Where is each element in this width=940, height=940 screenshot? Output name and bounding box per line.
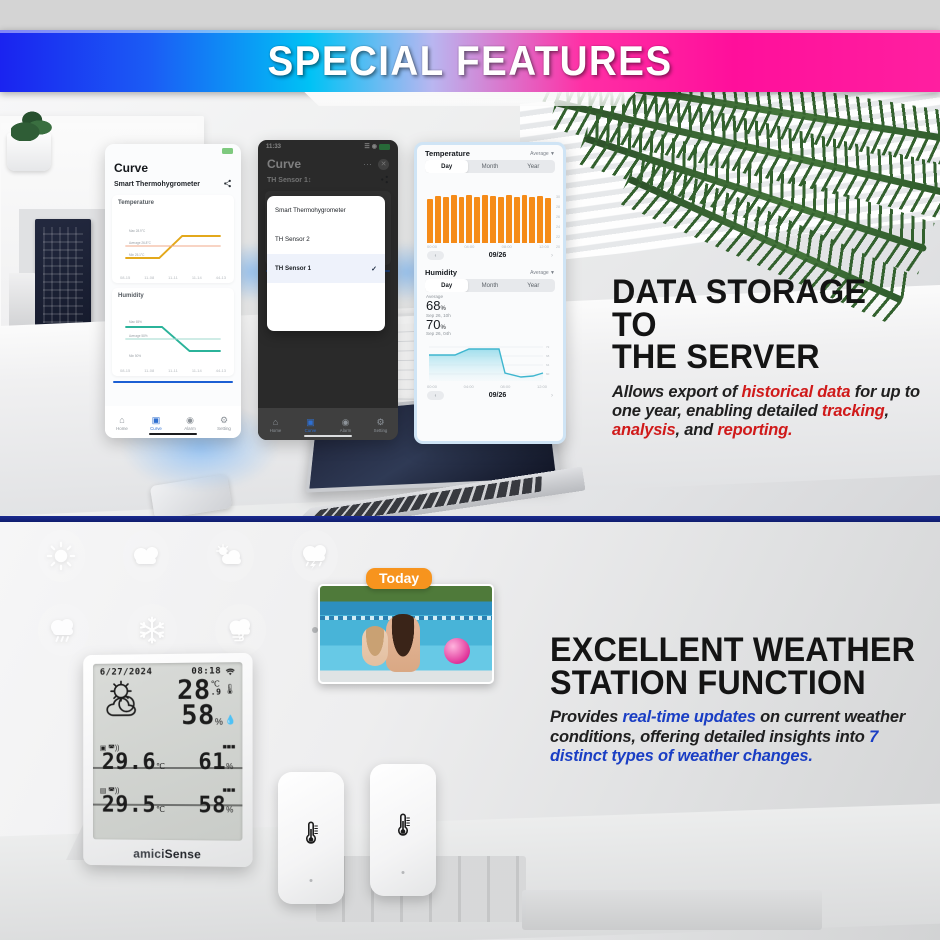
status-led — [310, 879, 313, 882]
bar — [490, 196, 496, 243]
bar — [537, 196, 543, 243]
dropdown-option-th-sensor-2[interactable]: TH Sensor 2 — [267, 225, 385, 254]
bottom-feature-body: Provides real-time updates on current we… — [550, 708, 938, 766]
bar — [474, 197, 480, 243]
axis-tick: 11-14 — [192, 368, 202, 373]
sensor-2-hum: 58 — [198, 793, 226, 818]
body-segment: , and — [676, 421, 718, 439]
header-banner: SPECIAL FEATURES — [0, 30, 940, 92]
indoor-temp-dec: .9 — [211, 689, 222, 698]
sensor-1-hum: 61 — [198, 750, 226, 775]
pool-photo — [318, 584, 494, 684]
hum-aggregate-dropdown[interactable]: Average ▼ — [530, 270, 555, 276]
sidebar-item-curve[interactable]: ▣ Curve — [139, 416, 173, 431]
thermometer-icon — [392, 812, 414, 838]
axis-tick: 24 — [556, 225, 560, 229]
top-feature-heading: DATA STORAGE TO THE SERVER — [612, 276, 918, 374]
axis-tick: 28 — [556, 205, 560, 209]
phone-a-temp-label: Temperature — [118, 200, 228, 206]
lcd-indoor-humidity: 58 % 💧 — [181, 703, 236, 728]
phone-a-temp-avg: Average 26.8°C — [129, 241, 152, 245]
tab-label: Home — [116, 426, 128, 431]
bar — [451, 195, 457, 243]
sidebar-item-setting[interactable]: ⚙ Setting — [363, 418, 398, 433]
chart-icon: ▣ — [152, 416, 161, 425]
axis-tick: 20 — [556, 245, 560, 249]
tab-label: Home — [270, 428, 282, 433]
sensor-1-temp-unit: ℃ — [156, 762, 165, 771]
body-segment: Allows export of — [612, 383, 742, 401]
tab-label: Alarm — [340, 428, 351, 433]
windy-icon — [215, 604, 266, 656]
remote-sensor-1 — [278, 772, 344, 904]
axis-tick: 08:00 — [500, 384, 510, 389]
sidebar-item-alarm[interactable]: ◉ Alarm — [173, 416, 207, 431]
temp-aggregate-dropdown[interactable]: Average ▼ — [530, 151, 555, 157]
temp-range-tabs: Day Month Year — [425, 160, 555, 173]
phone-detail-charts: Temperature Average ▼ Day Month Year — [414, 142, 566, 444]
tab-month[interactable]: Month — [468, 279, 511, 292]
axis-tick: 08-15 — [120, 368, 130, 373]
lcd-date: 6/27/2024 — [100, 667, 153, 678]
bottom-feature-text: EXCELLENT WEATHER STATION FUNCTION Provi… — [550, 634, 938, 766]
share-icon[interactable] — [223, 179, 232, 190]
sidebar-item-home[interactable]: ⌂ Home — [258, 418, 293, 433]
body-segment: Provides — [550, 708, 622, 726]
home-icon: ⌂ — [273, 418, 278, 427]
alarm-icon: ◉ — [342, 418, 350, 427]
product-feature-page: SPECIAL FEATURES — [0, 0, 940, 940]
axis-tick: 68 — [546, 354, 550, 358]
sensor-1-hum-unit: % — [226, 762, 233, 771]
temp-section-header: Temperature Average ▼ — [417, 145, 563, 160]
thermometer-icon — [300, 820, 322, 846]
phone-curve-overview: Curve Smart Thermohygrometer Temperature — [105, 144, 241, 438]
body-highlight: real-time updates — [622, 708, 755, 726]
sensor-2-temp-unit: ℃ — [156, 805, 165, 814]
axis-tick: 11-08 — [144, 275, 154, 280]
plant-pot — [7, 133, 51, 171]
chevron-right-icon[interactable]: › — [551, 253, 553, 259]
bottom-heading-line1: EXCELLENT WEATHER — [550, 634, 919, 667]
lcd-sensor-row-1: ▣ ◚)) ■■■ 29.6℃ 61% — [93, 740, 242, 775]
bar — [459, 197, 465, 243]
bar — [443, 197, 449, 243]
body-highlight: historical data — [742, 383, 851, 401]
indoor-hum-unit: % — [215, 703, 223, 725]
tab-day[interactable]: Day — [425, 279, 468, 292]
sensor-1-hum-group: 61% — [198, 753, 233, 774]
phone-a-hum-min: Min 50% — [129, 354, 141, 358]
bar — [498, 197, 504, 243]
body-highlight: analysis — [612, 421, 676, 439]
body-highlight: tracking — [822, 402, 885, 420]
tab-label: Curve — [150, 426, 162, 431]
remote-sensor-2 — [370, 764, 436, 896]
phone-a-device-name: Smart Thermohygrometer — [114, 181, 200, 188]
brand-suffix: Sense — [165, 847, 201, 861]
alarm-icon: ◉ — [186, 416, 194, 425]
banner-title: SPECIAL FEATURES — [38, 30, 903, 92]
axis-tick: 00:00 — [427, 384, 437, 389]
phone-a-tabbar: ⌂ Home ▣ Curve ◉ Alarm ⚙ Setting — [105, 406, 241, 438]
tab-label: Curve — [305, 428, 317, 433]
weather-icon-row-1 — [38, 530, 338, 582]
today-weather-card: Today — [318, 584, 494, 684]
sidebar-item-curve[interactable]: ▣ Curve — [293, 418, 328, 433]
phone-a-hum-avg: Average 58% — [129, 334, 148, 338]
sensor-2-values: 29.5℃ 58% — [100, 795, 235, 817]
axis-tick: 11-11 — [168, 368, 178, 373]
top-feature-text: DATA STORAGE TO THE SERVER Allows export… — [612, 276, 934, 441]
axis-tick: 26 — [556, 215, 560, 219]
banner-notch — [290, 92, 650, 106]
axis-tick: 11-08 — [144, 368, 154, 373]
bar — [529, 197, 535, 243]
temp-date: 09/26 — [489, 252, 507, 259]
phone-a-header: Curve — [105, 157, 241, 176]
body-highlight: reporting. — [717, 421, 792, 439]
phone-a-statusbar — [105, 144, 241, 157]
bar — [435, 196, 441, 243]
today-badge: Today — [366, 568, 432, 589]
sensor-2-hum-unit: % — [226, 805, 233, 814]
bar — [466, 195, 472, 243]
thermometer-icon: 🌡 — [221, 678, 236, 695]
axis-tick: 22 — [556, 235, 560, 239]
gear-icon: ⚙ — [376, 418, 384, 427]
phone-a-hum-axis: 08-15 11-08 11-11 11-14 44-13 — [118, 367, 228, 373]
plant-leaves — [11, 111, 57, 141]
hum-title: Humidity — [425, 268, 457, 277]
droplet-icon: 💧 — [223, 703, 236, 724]
sensor-2-temp-group: 29.5℃ — [102, 795, 165, 816]
hum-date: 09/26 — [489, 392, 507, 399]
phone-a-title: Curve — [114, 161, 148, 175]
dropdown-option-label: TH Sensor 2 — [275, 236, 310, 243]
phone-a-temperature-card: Temperature Max 28.9°C Average 26.8°C Mi… — [112, 195, 234, 283]
chart-icon: ▣ — [306, 418, 315, 427]
status-led — [402, 871, 405, 874]
axis-tick: 08:00 — [502, 244, 512, 249]
chevron-left-icon[interactable]: ‹ — [427, 251, 444, 260]
hum-average-value: 68 — [426, 298, 440, 313]
partly-cloudy-icon — [207, 530, 254, 582]
home-icon: ⌂ — [119, 416, 124, 425]
axis-tick: 72 — [546, 345, 550, 349]
sunny-icon — [38, 530, 85, 582]
phone-a-accent-bar — [113, 381, 233, 383]
stone-block-right — [522, 890, 822, 930]
brand-logo: amiciSense — [83, 846, 252, 862]
axis-tick: 08-15 — [120, 275, 130, 280]
lcd-indoor-values: 28 ℃ .9 🌡 58 % 💧 — [177, 678, 236, 728]
hum-stat-average: 68% — [426, 299, 554, 313]
check-icon: ✓ — [371, 265, 377, 273]
sidebar-item-alarm[interactable]: ◉ Alarm — [328, 418, 363, 433]
phone-b-tabbar: ⌂ Home ▣ Curve ◉ Alarm ⚙ Setting — [258, 408, 398, 440]
bar — [522, 195, 528, 243]
chevron-right-icon[interactable]: › — [551, 393, 553, 399]
phone-a-hum-max: Max 65% — [129, 320, 142, 324]
axis-tick: 44-13 — [216, 275, 226, 280]
axis-tick: 12:00 — [537, 384, 547, 389]
sensor-2-hum-group: 58% — [198, 796, 233, 817]
sidebar-item-setting[interactable]: ⚙ Setting — [207, 416, 241, 431]
sensor-1-temp-group: 29.6℃ — [102, 753, 165, 774]
tab-month[interactable]: Month — [468, 160, 511, 173]
lcd-sensor-row-2: ▤ ◚)) ■■■ 29.5℃ 58% — [93, 783, 242, 819]
sensor-1-temp: 29.6 — [102, 750, 156, 775]
hum-date-nav: ‹ 09/26 › — [417, 389, 563, 404]
phone-a-status-icons — [222, 148, 233, 154]
thunderstorm-icon — [292, 530, 339, 582]
temp-title: Temperature — [425, 149, 470, 158]
dropdown-option-smart-thermohygrometer[interactable]: Smart Thermohygrometer — [267, 196, 385, 225]
shelf-book — [35, 219, 91, 331]
body-segment: , — [884, 402, 888, 420]
tab-day[interactable]: Day — [425, 160, 468, 173]
weather-station-device: 6/27/2024 08:18 — [82, 654, 252, 866]
weather-icon-row-2 — [38, 604, 338, 656]
remote-sensors — [272, 758, 452, 918]
hum-area-chart: 72 68 64 60 — [425, 339, 555, 383]
hum-peak-value: 70 — [426, 317, 440, 332]
lcd-display: 6/27/2024 08:18 — [93, 662, 242, 841]
phone-a-device-selector[interactable]: Smart Thermohygrometer — [105, 176, 241, 195]
gear-icon: ⚙ — [220, 416, 228, 425]
swimmer-adult — [386, 614, 420, 672]
tab-year[interactable]: Year — [512, 160, 555, 173]
phone-a-hum-chart: Max 65% Average 58% Min 50% — [118, 301, 228, 367]
phone-a-humidity-card: Humidity Max 65% Average 58% Min 50% 08-… — [112, 288, 234, 376]
brand-prefix: amici — [133, 847, 164, 861]
phone-a-temp-min: Min 25.1°C — [129, 253, 145, 257]
lcd-header-row: 6/27/2024 08:18 — [93, 662, 242, 678]
bar — [506, 195, 512, 243]
axis-tick: 11-14 — [192, 275, 202, 280]
tab-label: Setting — [374, 428, 388, 433]
indoor-temp-sub: ℃ .9 — [211, 678, 222, 697]
dropdown-option-label: TH Sensor 1 — [275, 265, 311, 272]
bottom-feature-heading: EXCELLENT WEATHER STATION FUNCTION — [550, 634, 919, 699]
device-body: 6/27/2024 08:18 — [83, 653, 252, 867]
axis-tick: 30 — [556, 195, 560, 199]
axis-tick: 44-13 — [216, 368, 226, 373]
tab-label: Setting — [217, 426, 231, 431]
hum-average-unit: % — [440, 306, 445, 312]
dropdown-option-label: Smart Thermohygrometer — [275, 207, 346, 214]
hum-section-header: Humidity Average ▼ — [417, 264, 563, 279]
phone-a-temp-max: Max 28.9°C — [129, 229, 146, 233]
hum-range-tabs: Day Month Year — [425, 279, 555, 292]
temp-bars — [417, 189, 563, 243]
lcd-indoor-row: 28 ℃ .9 🌡 58 % 💧 — [93, 676, 242, 729]
phone-a-temp-axis: 08-15 11-08 11-11 11-14 44-13 — [118, 274, 228, 280]
rainy-icon — [38, 604, 89, 656]
axis-tick: 64 — [546, 363, 550, 367]
chevron-left-icon[interactable]: ‹ — [427, 391, 444, 400]
phone-a-hum-label: Humidity — [118, 293, 228, 299]
device-dropdown[interactable]: Smart Thermohygrometer TH Sensor 2 TH Se… — [267, 196, 385, 331]
wifi-icon — [225, 667, 235, 676]
bottom-heading-line2: STATION FUNCTION — [550, 667, 919, 700]
hum-stat-peak-sub: Sep 26, 04h — [426, 331, 554, 336]
sidebar-item-home[interactable]: ⌂ Home — [105, 416, 139, 431]
hum-peak-unit: % — [440, 325, 445, 331]
battery-icon — [222, 148, 233, 154]
temp-y-axis: 30 28 26 24 22 20 — [556, 195, 560, 249]
hum-stat-peak: 70% — [426, 318, 554, 332]
temp-date-nav: ‹ 09/26 › — [417, 249, 563, 264]
hum-stats: Average 68% Sep 26, 10h 70% Sep 26, 04h — [417, 292, 563, 336]
top-heading-line1: DATA STORAGE TO — [612, 276, 918, 341]
bar — [482, 195, 488, 243]
bar — [514, 197, 520, 243]
axis-tick: 11-11 — [168, 275, 178, 280]
snowy-icon — [127, 604, 178, 656]
home-indicator — [304, 435, 352, 438]
axis-tick: 60 — [546, 372, 550, 376]
temp-bar-chart: 30 28 26 24 22 20 — [417, 189, 563, 243]
dropdown-option-th-sensor-1[interactable]: TH Sensor 1 ✓ — [267, 254, 385, 283]
axis-tick: 04:00 — [464, 384, 474, 389]
axis-tick: 12:00 — [539, 244, 549, 249]
bar — [545, 198, 551, 243]
tab-year[interactable]: Year — [512, 279, 555, 292]
bar — [427, 199, 433, 243]
indoor-hum-value: 58 — [181, 703, 215, 728]
tab-label: Alarm — [184, 426, 195, 431]
axis-tick: 00:00 — [427, 244, 437, 249]
partly-cloudy-icon — [101, 679, 156, 723]
beach-ball — [444, 638, 470, 664]
axis-tick: 04:00 — [464, 244, 474, 249]
phone-a-temp-chart: Max 28.9°C Average 26.8°C Min 25.1°C — [118, 208, 228, 274]
section-divider — [0, 516, 940, 522]
top-heading-line2: THE SERVER — [612, 341, 918, 374]
swimmer-child — [362, 626, 388, 666]
home-indicator — [149, 433, 197, 436]
sensor-2-temp: 29.5 — [102, 792, 156, 817]
sensor-1-values: 29.6℃ 61% — [100, 753, 235, 774]
top-feature-body: Allows export of historical data for up … — [612, 383, 934, 441]
cloudy-icon — [123, 530, 170, 582]
phone-device-picker: 11:33 ☰ ◉ Curve ⋯ ✕ TH Sensor 1↕ — [258, 140, 398, 440]
